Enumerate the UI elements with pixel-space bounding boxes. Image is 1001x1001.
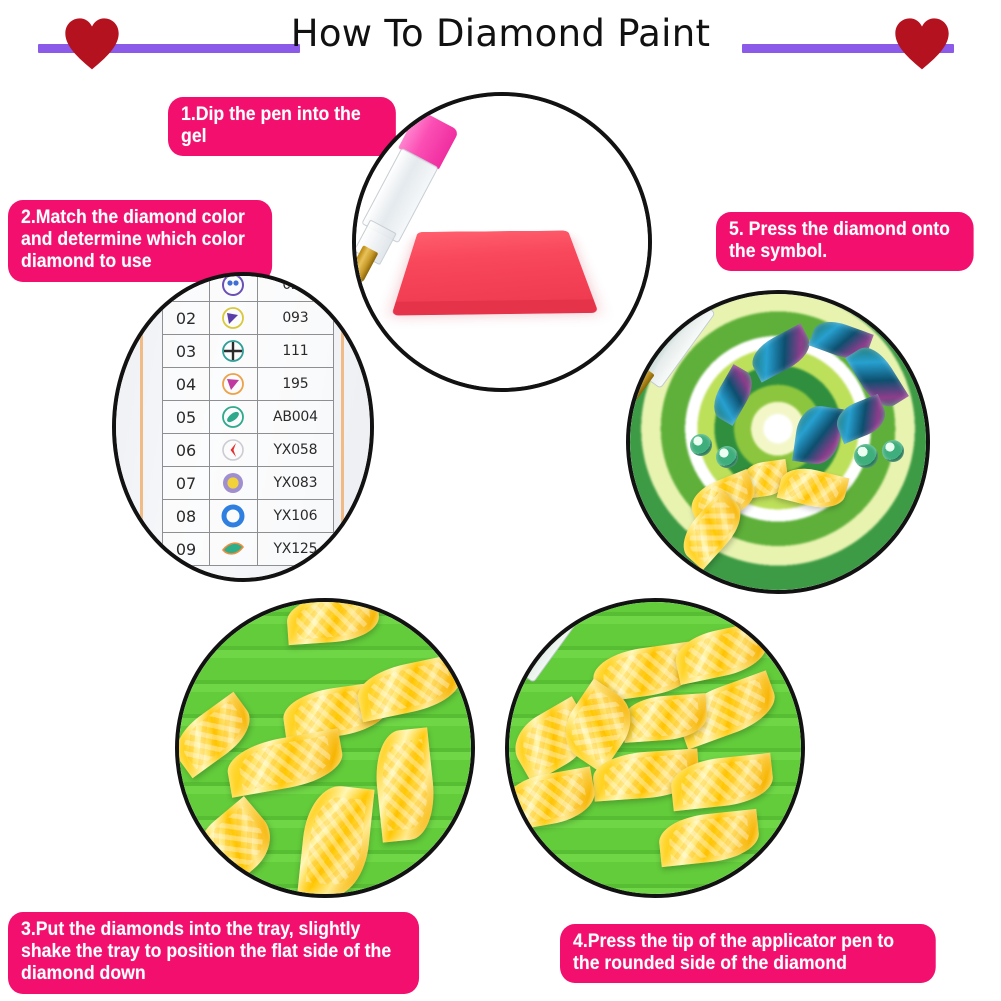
chart-number: 04	[163, 368, 210, 401]
table-row: 08 YX106	[163, 500, 334, 533]
chart-number: 03	[163, 335, 210, 368]
chart-code: YX058	[257, 434, 333, 467]
color-chart-table: 020 02 093 03 111	[162, 276, 334, 566]
step-3-label: 3.Put the diamonds into the tray, slight…	[8, 912, 419, 994]
chart-number: 06	[163, 434, 210, 467]
chart-code: YX125	[257, 533, 333, 566]
chart-code: 020	[257, 276, 333, 302]
triangle-in-circle-symbol	[210, 302, 258, 335]
chart-code: 195	[257, 368, 333, 401]
chart-code: YX083	[257, 467, 333, 500]
triangle-in-circle-symbol	[210, 368, 258, 401]
ring-symbol	[210, 500, 258, 533]
chart-number: 09	[163, 533, 210, 566]
dot-in-ring-symbol	[210, 467, 258, 500]
chart-margin-line	[140, 276, 143, 578]
chart-code: 111	[257, 335, 333, 368]
table-row: 06 YX058	[163, 434, 334, 467]
step-2-label: 2.Match the diamond color and determine …	[8, 200, 272, 282]
gel-block	[394, 231, 595, 307]
oval-in-circle-symbol	[210, 401, 258, 434]
table-row: 07 YX083	[163, 467, 334, 500]
table-row: 09 YX125	[163, 533, 334, 566]
table-row: 02 093	[163, 302, 334, 335]
step-4-photo	[505, 598, 805, 898]
step-3-photo	[175, 598, 475, 898]
arrow-in-circle-symbol	[210, 434, 258, 467]
dots-in-circle-symbol	[210, 276, 258, 302]
step-2-photo: 020 02 093 03 111	[112, 272, 374, 582]
page-header: How To Diamond Paint	[0, 0, 1001, 90]
chart-margin-line	[341, 276, 344, 578]
chart-number: 05	[163, 401, 210, 434]
table-row: 04 195	[163, 368, 334, 401]
plus-in-circle-symbol	[210, 335, 258, 368]
page-title: How To Diamond Paint	[0, 12, 1001, 55]
chart-number: 08	[163, 500, 210, 533]
chart-number: 02	[163, 302, 210, 335]
marquise-symbol	[210, 533, 258, 566]
step-5-label: 5. Press the diamond onto the symbol.	[716, 212, 974, 271]
step-1-photo	[352, 92, 652, 392]
table-row: 05 AB004	[163, 401, 334, 434]
step-5-photo	[626, 290, 930, 594]
chart-number: 07	[163, 467, 210, 500]
chart-number	[163, 276, 210, 302]
table-row: 020	[163, 276, 334, 302]
step-4-label: 4.Press the tip of the applicator pen to…	[560, 924, 936, 983]
chart-code: AB004	[257, 401, 333, 434]
chart-code: 093	[257, 302, 333, 335]
table-row: 03 111	[163, 335, 334, 368]
chart-code: YX106	[257, 500, 333, 533]
infographic-page: How To Diamond Paint 1.Dip the pen into …	[0, 0, 1001, 1001]
